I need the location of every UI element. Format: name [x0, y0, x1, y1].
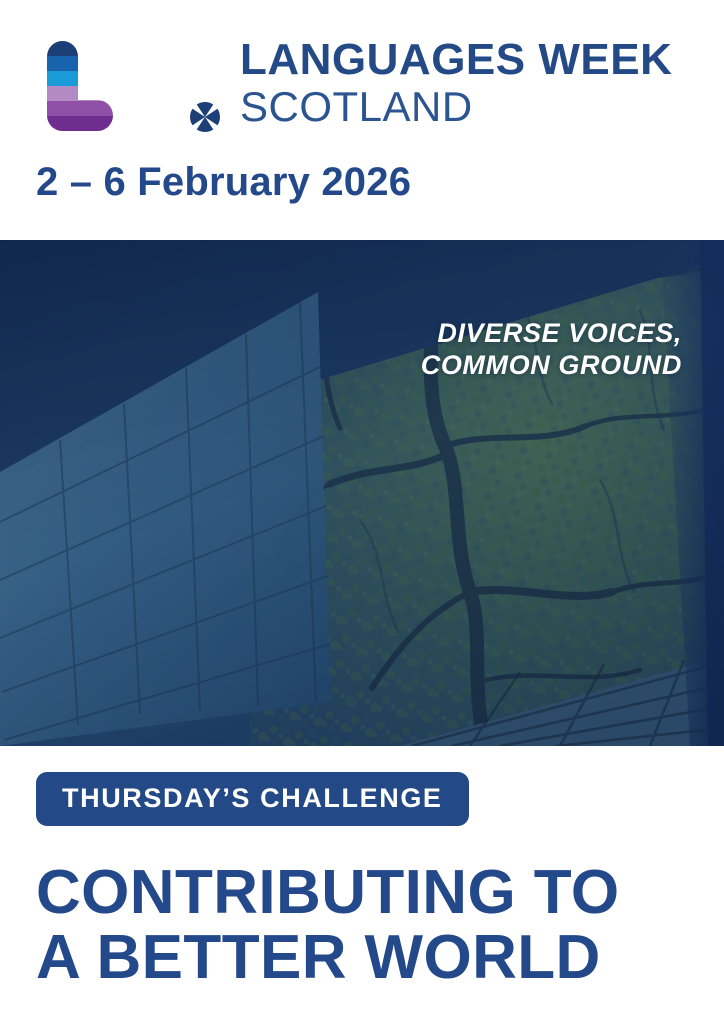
- poster-header: LANGUAGES WEEK SCOTLAND 2 – 6 February 2…: [0, 0, 724, 240]
- event-dates: 2 – 6 February 2026: [36, 162, 724, 202]
- brand-title-line1: LANGUAGES WEEK: [240, 38, 672, 82]
- status-badge: THURSDAY’S CHALLENGE: [36, 772, 469, 826]
- hero-banner: DIVERSE VOICES, COMMON GROUND: [0, 240, 724, 746]
- hero-tagline: DIVERSE VOICES, COMMON GROUND: [421, 318, 682, 382]
- brand-title-line2: SCOTLAND: [240, 82, 672, 132]
- page-title: CONTRIBUTING TO A BETTER WORLD: [36, 860, 688, 990]
- poster-root: LANGUAGES WEEK SCOTLAND 2 – 6 February 2…: [0, 0, 724, 1024]
- brand-wordmark: LANGUAGES WEEK SCOTLAND: [240, 36, 672, 132]
- lw-monogram-icon: [38, 36, 238, 140]
- scotland-saltire-icon: [190, 102, 220, 132]
- challenge-section: THURSDAY’S CHALLENGE CONTRIBUTING TO A B…: [0, 746, 724, 1032]
- hero-photo: [0, 240, 724, 746]
- brand-lockup: LANGUAGES WEEK SCOTLAND: [36, 36, 724, 140]
